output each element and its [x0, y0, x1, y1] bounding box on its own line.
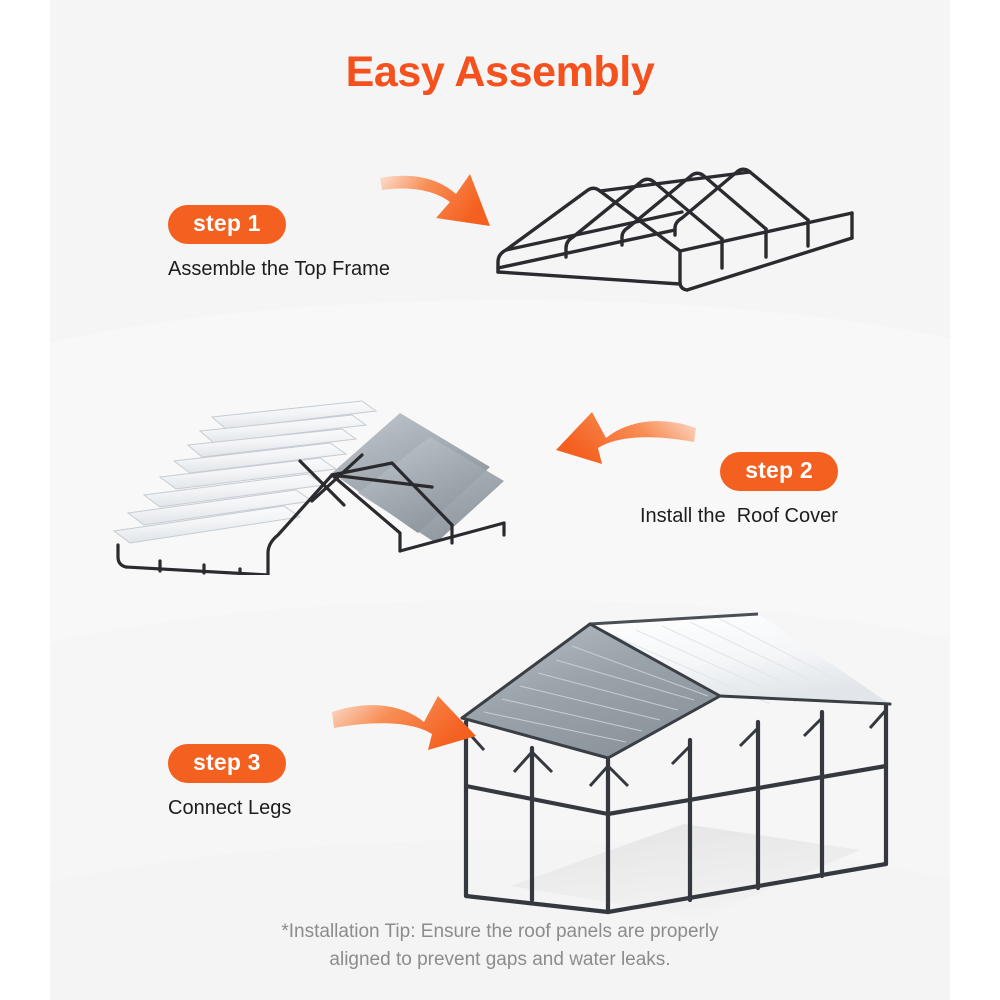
- step-3: step 3 Connect Legs: [168, 744, 291, 820]
- installation-tip-line-2: aligned to prevent gaps and water leaks.: [0, 946, 1000, 974]
- page-title: Easy Assembly: [0, 48, 1000, 97]
- step-3-caption: Connect Legs: [168, 797, 291, 820]
- step-2-badge: step 2: [720, 452, 838, 491]
- illustration-roof-cover: [100, 375, 540, 575]
- step-1: step 1 Assemble the Top Frame: [168, 205, 390, 281]
- arrow-step-1: [378, 150, 518, 250]
- step-2: step 2 Install the Roof Cover: [640, 452, 838, 528]
- step-1-caption: Assemble the Top Frame: [168, 258, 390, 281]
- installation-tip: *Installation Tip: Ensure the roof panel…: [0, 918, 1000, 973]
- step-3-badge: step 3: [168, 744, 286, 783]
- arrow-step-3: [330, 680, 490, 790]
- illustration-assembled-carport: [440, 600, 900, 920]
- assembly-infographic: Easy Assembly: [0, 0, 1000, 1000]
- illustration-top-frame: [470, 150, 880, 320]
- step-1-badge: step 1: [168, 205, 286, 244]
- step-2-caption: Install the Roof Cover: [640, 505, 838, 528]
- installation-tip-line-1: *Installation Tip: Ensure the roof panel…: [0, 918, 1000, 946]
